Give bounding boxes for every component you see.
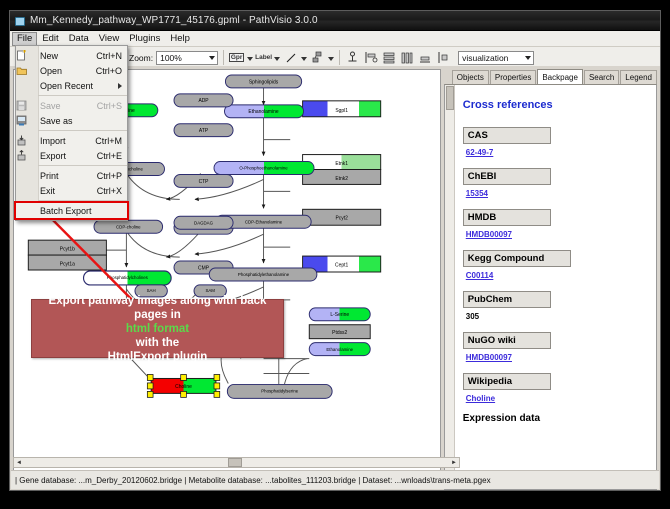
- node-cdp-choline[interactable]: CDP-choline: [94, 220, 163, 233]
- xref-link[interactable]: 62-49-7: [466, 148, 648, 157]
- node-choline-selected[interactable]: Choline: [147, 374, 219, 397]
- callout-line-1: Export pathway images along with back: [49, 294, 267, 308]
- pathvisio-icon: [14, 15, 25, 26]
- menu-item-open-label: Open: [38, 66, 96, 76]
- menu-edit[interactable]: Edit: [37, 32, 63, 46]
- xref-nugo-wiki: NuGO wiki HMDB00097: [463, 330, 648, 362]
- callout-line-2a: pages in: [126, 308, 189, 322]
- screen-root: Mm_Kennedy_pathway_WP1771_45176.gpml - P…: [0, 0, 670, 509]
- window-title: Mm_Kennedy_pathway_WP1771_45176.gpml - P…: [30, 15, 318, 26]
- menu-item-open[interactable]: Open Ctrl+O: [16, 63, 127, 78]
- menu-item-import-label: Import: [38, 136, 95, 146]
- statusbar-text: | Gene database: ...m_Derby_20120602.bri…: [11, 476, 491, 485]
- node-label: Ptdss2: [332, 330, 347, 336]
- menu-file[interactable]: File: [12, 32, 37, 46]
- node-label: Phosphatidylethanolamine: [238, 272, 290, 277]
- node-label: Cept1: [335, 262, 348, 268]
- align-columns-icon[interactable]: [399, 50, 414, 65]
- menu-help[interactable]: Help: [165, 32, 195, 46]
- xref-link[interactable]: HMDB00097: [466, 353, 648, 362]
- node-label: Etnk2: [335, 176, 348, 182]
- folder-open-icon: [16, 65, 38, 76]
- node-label: CTP: [199, 179, 209, 185]
- menu-item-new[interactable]: New Ctrl+N: [16, 48, 127, 63]
- menu-item-import[interactable]: Import Ctrl+M: [16, 133, 127, 148]
- annotation-callout: Export pathway images along with back pa…: [31, 299, 284, 358]
- canvas-hscrollbar[interactable]: ◄ ►: [13, 457, 460, 468]
- node-label: Sgpl1: [335, 108, 348, 114]
- xref-hmdb: HMDB HMDB00097: [463, 207, 648, 239]
- node-label: Pcyt1a: [60, 261, 75, 267]
- menu-item-open-recent-label: Open Recent: [38, 81, 127, 91]
- node-ethanolamine-right[interactable]: Ethanolamine: [309, 343, 370, 356]
- node-phosphatidylserine[interactable]: Phosphatidylserine: [227, 384, 332, 398]
- menu-item-export[interactable]: Export Ctrl+E: [16, 148, 127, 163]
- hscroll-thumb[interactable]: [228, 458, 242, 467]
- menu-item-batch-export[interactable]: Batch Export: [16, 203, 127, 218]
- callout-line-2: pages in html format with the: [126, 308, 189, 350]
- callout-line-2b: with the: [126, 336, 189, 350]
- callout-highlight: html format: [126, 322, 189, 336]
- node-label: ATP: [199, 128, 209, 134]
- visualization-combo[interactable]: visualization: [458, 51, 534, 65]
- xref-database-name: NuGO wiki: [463, 332, 551, 349]
- new-file-icon: [16, 50, 38, 61]
- align-rows-icon[interactable]: [381, 50, 396, 65]
- node-label: Ethanolamine: [248, 109, 278, 115]
- menu-item-save-label: Save: [38, 101, 97, 111]
- node-sgpl1[interactable]: Sgpl1: [303, 101, 381, 117]
- toolbar-divider-2: [339, 50, 340, 65]
- menu-item-batch-export-label: Batch Export: [38, 206, 127, 216]
- menu-item-new-label: New: [38, 51, 96, 61]
- menu-item-save-shortcut: Ctrl+S: [97, 101, 127, 111]
- menu-item-import-shortcut: Ctrl+M: [95, 136, 127, 146]
- anchor-icon[interactable]: [345, 50, 360, 65]
- node-sphingolipids[interactable]: Sphingolipids: [225, 75, 301, 88]
- backpage-inner: Cross references CAS 62-49-7 ChEBI 15354…: [455, 85, 656, 489]
- chevron-down-icon-2: [525, 56, 531, 60]
- menu-item-print-label: Print: [38, 171, 97, 181]
- menu-item-save-as-label: Save as: [38, 116, 122, 126]
- menu-item-exit-shortcut: Ctrl+X: [97, 186, 127, 196]
- node-label: ADP: [198, 98, 209, 104]
- xref-link[interactable]: HMDB00097: [466, 230, 648, 239]
- backpage-scrollbar[interactable]: [445, 85, 455, 489]
- node-label: CDP-Ethanolamine: [245, 219, 283, 224]
- menu-view[interactable]: View: [94, 32, 124, 46]
- window-titlebar[interactable]: Mm_Kennedy_pathway_WP1771_45176.gpml - P…: [10, 11, 660, 31]
- node-phosphatidylethanolamine[interactable]: Phosphatidylethanolamine: [209, 268, 317, 281]
- tab-legend[interactable]: Legend: [620, 70, 657, 84]
- tab-search[interactable]: Search: [584, 70, 619, 84]
- callout-line-3: HtmlExport plugin: [108, 350, 208, 364]
- xref-database-name: CAS: [463, 127, 551, 144]
- node-label: CMP: [198, 265, 210, 271]
- xref-database-name: HMDB: [463, 209, 551, 226]
- cross-references-title: Cross references: [463, 99, 648, 111]
- menu-plugins[interactable]: Plugins: [124, 32, 165, 46]
- visualization-value: visualization: [462, 53, 508, 63]
- save-as-icon: [16, 115, 38, 126]
- menu-item-save-as[interactable]: Save as: [16, 113, 127, 128]
- xref-database-name: PubChem: [463, 291, 551, 308]
- menu-item-new-shortcut: Ctrl+N: [96, 51, 127, 61]
- import-icon: [16, 135, 38, 146]
- xref-value: 305: [466, 312, 648, 321]
- xref-link[interactable]: Choline: [466, 394, 648, 403]
- menu-separator-1: [38, 95, 127, 96]
- node-label: Pcyt1b: [60, 246, 75, 252]
- tab-backpage[interactable]: Backpage: [537, 69, 583, 85]
- node-label: Pcyt2: [335, 216, 348, 222]
- node-label: O-Phosphoethanolamine: [239, 166, 288, 171]
- node-ptdss2[interactable]: Ptdss2: [309, 325, 370, 339]
- menu-item-print-shortcut: Ctrl+P: [97, 171, 127, 181]
- submenu-arrow-icon: [118, 83, 122, 89]
- zoom-combo[interactable]: 100%: [156, 51, 218, 65]
- line-dropdown-icon[interactable]: [301, 57, 307, 61]
- xref-wikipedia: Wikipedia Choline: [463, 371, 648, 403]
- node-atp[interactable]: ATP: [174, 124, 233, 137]
- pathvisio-window: Mm_Kennedy_pathway_WP1771_45176.gpml - P…: [9, 10, 661, 491]
- node-pcyt1b[interactable]: Pcyt1b: [28, 240, 106, 255]
- save-icon: [16, 100, 38, 111]
- hscroll-track[interactable]: [24, 458, 449, 467]
- statusbar: | Gene database: ...m_Derby_20120602.bri…: [11, 470, 659, 489]
- xref-database-name: Wikipedia: [463, 373, 551, 390]
- node-ethanolamine-top[interactable]: Ethanolamine: [224, 105, 303, 118]
- backpage-content: Cross references CAS 62-49-7 ChEBI 15354…: [444, 84, 657, 490]
- menu-item-export-shortcut: Ctrl+E: [97, 151, 127, 161]
- file-menu-dropdown: New Ctrl+N Open Ctrl+O Open Recent: [15, 45, 128, 221]
- datanode-dropdown-icon[interactable]: [247, 57, 253, 61]
- menu-item-exit[interactable]: Exit Ctrl+X: [16, 183, 127, 198]
- menu-item-print[interactable]: Print Ctrl+P: [16, 168, 127, 183]
- node-label: Choline: [175, 384, 192, 390]
- node-adp[interactable]: ADP: [174, 94, 233, 107]
- zoom-value: 100%: [160, 53, 182, 63]
- node-phosphatidylcholines[interactable]: Phosphatidylcholines: [84, 271, 172, 285]
- xref-chebi: ChEBI 15354: [463, 166, 648, 198]
- scroll-left-icon[interactable]: ◄: [14, 458, 24, 467]
- datanode-icon[interactable]: Gpr: [229, 50, 244, 65]
- xref-database-name: ChEBI: [463, 168, 551, 185]
- menu-separator-4: [38, 200, 127, 201]
- align-left-icon[interactable]: [363, 50, 378, 65]
- toolbar-divider: [223, 50, 224, 65]
- tab-properties[interactable]: Properties: [490, 70, 536, 84]
- xref-pubchem: PubChem 305: [463, 289, 648, 321]
- xref-kegg-compound: Kegg Compound C00114: [463, 248, 648, 280]
- tab-objects[interactable]: Objects: [452, 70, 489, 84]
- xref-database-name: Kegg Compound: [463, 250, 572, 267]
- xref-link[interactable]: C00114: [466, 271, 648, 280]
- node-label: L-Serine: [330, 312, 349, 318]
- menu-item-save[interactable]: Save Ctrl+S: [16, 98, 127, 113]
- menu-data[interactable]: Data: [64, 32, 94, 46]
- node-dagdag-visible[interactable]: DAGDAG: [174, 216, 233, 229]
- right-panel: Objects Properties Backpage Search Legen…: [444, 69, 657, 490]
- label-icon[interactable]: Label: [256, 50, 271, 65]
- node-o-phosphoethanolamine[interactable]: O-Phosphoethanolamine: [214, 162, 314, 175]
- menu-separator-3: [38, 165, 127, 166]
- node-label: SAM: [205, 288, 215, 293]
- node-label: Etnk1: [335, 161, 348, 167]
- export-icon: [16, 150, 38, 161]
- node-label: Ethanolamine: [326, 347, 353, 352]
- distribute-icon[interactable]: [435, 50, 450, 65]
- node-ctp[interactable]: CTP: [174, 174, 233, 187]
- interaction-icon[interactable]: [310, 50, 325, 65]
- menu-item-open-recent[interactable]: Open Recent: [16, 78, 127, 93]
- chevron-down-icon: [209, 56, 215, 60]
- node-label: CDP-choline: [116, 224, 141, 229]
- node-label: DAGDAG: [194, 220, 213, 225]
- node-label: SAH: [147, 288, 156, 293]
- menu-item-exit-label: Exit: [38, 186, 97, 196]
- menu-item-export-label: Export: [38, 151, 97, 161]
- stack-icon[interactable]: [417, 50, 432, 65]
- line-icon[interactable]: [283, 50, 298, 65]
- interaction-dropdown-icon[interactable]: [328, 57, 334, 61]
- scroll-right-icon[interactable]: ►: [449, 458, 459, 467]
- node-label: Sphingolipids: [249, 79, 279, 85]
- label-dropdown-icon[interactable]: [274, 57, 280, 61]
- node-pcyt2[interactable]: Pcyt2: [303, 209, 381, 225]
- expression-data-title: Expression data: [463, 413, 648, 424]
- xref-link[interactable]: 15354: [466, 189, 648, 198]
- node-etnk2[interactable]: Etnk2: [303, 170, 381, 185]
- right-panel-tabs: Objects Properties Backpage Search Legen…: [444, 69, 657, 84]
- menu-item-open-shortcut: Ctrl+O: [96, 66, 127, 76]
- scrollbar-thumb[interactable]: [446, 86, 454, 110]
- node-l-serine[interactable]: L-Serine: [309, 308, 370, 321]
- zoom-label: Zoom:: [129, 53, 153, 63]
- menu-separator-2: [38, 130, 127, 131]
- xref-cas: CAS 62-49-7: [463, 125, 648, 157]
- node-label: Phosphatidylserine: [261, 389, 298, 394]
